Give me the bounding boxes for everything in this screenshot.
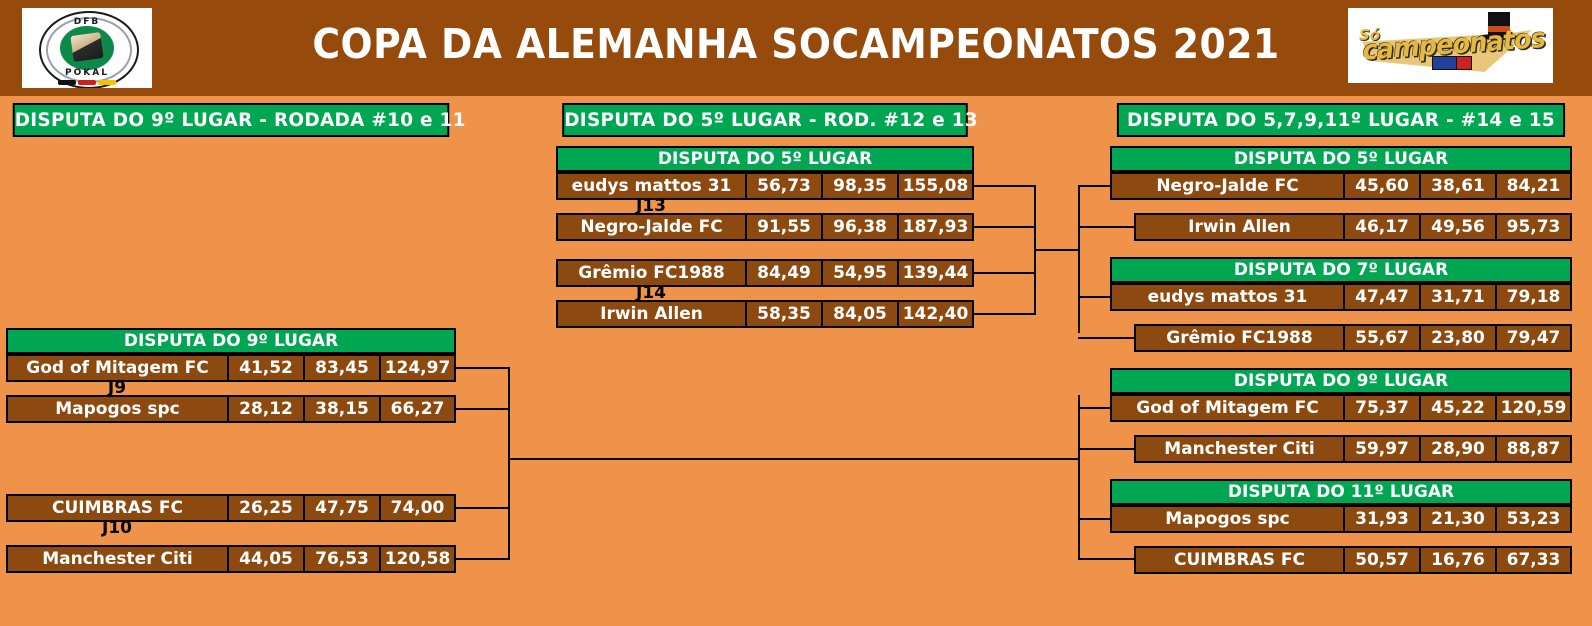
- leg2-score: 47,75: [304, 494, 380, 522]
- total-score: 88,87: [1496, 435, 1572, 463]
- bracket-page: DFB POKAL COPA DA ALEMANHA SOCAMPEONATOS…: [0, 0, 1592, 626]
- leg2-score: 84,05: [822, 300, 898, 328]
- connector-line: [1078, 407, 1112, 409]
- total-score: 155,08: [898, 172, 974, 200]
- table-row[interactable]: Irwin Allen 58,35 84,05 142,40: [556, 300, 974, 328]
- team-name: Grêmio FC1988: [1134, 324, 1344, 352]
- team-name: Mapogos spc: [1110, 505, 1344, 533]
- total-score: 66,27: [380, 395, 456, 423]
- group-title-middle-5: DISPUTA DO 5º LUGAR: [556, 146, 974, 172]
- dfb-bottom-label: POKAL: [22, 68, 152, 78]
- connector-line: [456, 408, 510, 410]
- so-campeonatos-logo: Só campeonatos: [1348, 8, 1553, 83]
- team-name: CUIMBRAS FC: [1134, 546, 1344, 574]
- connector-line: [1078, 226, 1136, 228]
- leg1-score: 26,25: [228, 494, 304, 522]
- leg2-score: 21,30: [1420, 505, 1496, 533]
- connector-line: [1078, 185, 1080, 333]
- leg1-score: 84,49: [746, 259, 822, 287]
- team-name: God of Mitagem FC: [1110, 394, 1344, 422]
- connector-line: [1078, 185, 1112, 187]
- table-row[interactable]: Irwin Allen 46,17 49,56 95,73: [1134, 213, 1572, 241]
- leg1-score: 45,60: [1344, 172, 1420, 200]
- table-row[interactable]: CUIMBRAS FC 50,57 16,76 67,33: [1134, 546, 1572, 574]
- connector-line: [1034, 249, 1080, 251]
- table-row[interactable]: Mapogos spc 28,12 38,15 66,27: [6, 395, 456, 423]
- connector-line: [974, 185, 1036, 187]
- team-name: Negro-Jalde FC: [1110, 172, 1344, 200]
- team-name: Mapogos spc: [6, 395, 228, 423]
- leg1-score: 41,52: [228, 354, 304, 382]
- leg1-score: 56,73: [746, 172, 822, 200]
- total-score: 124,97: [380, 354, 456, 382]
- table-row[interactable]: Manchester Citi 59,97 28,90 88,87: [1134, 435, 1572, 463]
- connector-line: [456, 507, 510, 509]
- group-title-right-11: DISPUTA DO 11º LUGAR: [1110, 479, 1572, 505]
- leg1-score: 44,05: [228, 545, 304, 573]
- flag-stripe-gold: [98, 80, 116, 85]
- team-name: Irwin Allen: [556, 300, 746, 328]
- total-score: 79,18: [1496, 283, 1572, 311]
- connector-line: [1078, 296, 1112, 298]
- connector-line: [1078, 448, 1136, 450]
- leg1-score: 58,35: [746, 300, 822, 328]
- connector-line: [1034, 226, 1036, 314]
- logo-badge-red: [1456, 56, 1472, 70]
- flag-stripe-black: [58, 80, 76, 85]
- leg2-score: 38,61: [1420, 172, 1496, 200]
- connector-line: [1078, 337, 1136, 339]
- leg2-score: 16,76: [1420, 546, 1496, 574]
- match-id-j10: J10: [6, 518, 228, 538]
- total-score: 53,23: [1496, 505, 1572, 533]
- leg2-score: 31,71: [1420, 283, 1496, 311]
- connector-line: [974, 226, 1036, 228]
- table-row[interactable]: Negro-Jalde FC 91,55 96,38 187,93: [556, 213, 974, 241]
- leg2-score: 76,53: [304, 545, 380, 573]
- leg1-score: 31,93: [1344, 505, 1420, 533]
- connector-line: [974, 272, 1036, 274]
- connector-line: [508, 367, 510, 409]
- team-name: Irwin Allen: [1134, 213, 1344, 241]
- leg1-score: 91,55: [746, 213, 822, 241]
- page-title: COPA DA ALEMANHA SOCAMPEONATOS 2021: [64, 20, 1529, 68]
- connector-line: [1078, 395, 1080, 558]
- leg2-score: 96,38: [822, 213, 898, 241]
- leg1-score: 75,37: [1344, 394, 1420, 422]
- team-name: eudys mattos 31: [1110, 283, 1344, 311]
- leg1-score: 50,57: [1344, 546, 1420, 574]
- group-title-left-9: DISPUTA DO 9º LUGAR: [6, 328, 456, 354]
- total-score: 79,47: [1496, 324, 1572, 352]
- connector-line: [1078, 558, 1136, 560]
- team-name: Manchester Citi: [6, 545, 228, 573]
- connector-line: [508, 458, 1080, 460]
- table-row[interactable]: God of Mitagem FC 75,37 45,22 120,59: [1110, 394, 1572, 422]
- leg2-score: 38,15: [304, 395, 380, 423]
- section-header-right: DISPUTA DO 5,7,9,11º LUGAR - #14 e 15: [1117, 103, 1565, 137]
- leg1-score: 46,17: [1344, 213, 1420, 241]
- table-row[interactable]: Grêmio FC1988 55,67 23,80 79,47: [1134, 324, 1572, 352]
- connector-line: [508, 507, 510, 559]
- leg2-score: 83,45: [304, 354, 380, 382]
- total-score: 142,40: [898, 300, 974, 328]
- leg1-score: 59,97: [1344, 435, 1420, 463]
- table-row[interactable]: eudys mattos 31 47,47 31,71 79,18: [1110, 283, 1572, 311]
- group-title-right-5: DISPUTA DO 5º LUGAR: [1110, 146, 1572, 172]
- table-row[interactable]: Negro-Jalde FC 45,60 38,61 84,21: [1110, 172, 1572, 200]
- connector-line: [1078, 518, 1112, 520]
- total-score: 139,44: [898, 259, 974, 287]
- leg2-score: 23,80: [1420, 324, 1496, 352]
- connector-line: [456, 558, 510, 560]
- total-score: 187,93: [898, 213, 974, 241]
- table-row[interactable]: Mapogos spc 31,93 21,30 53,23: [1110, 505, 1572, 533]
- table-row[interactable]: Manchester Citi 44,05 76,53 120,58: [6, 545, 456, 573]
- section-header-left: DISPUTA DO 9º LUGAR - RODADA #10 e 11: [13, 103, 450, 137]
- group-title-right-9: DISPUTA DO 9º LUGAR: [1110, 368, 1572, 394]
- section-header-middle: DISPUTA DO 5º LUGAR - ROD. #12 e 13: [562, 103, 967, 137]
- total-score: 84,21: [1496, 172, 1572, 200]
- team-name: Negro-Jalde FC: [556, 213, 746, 241]
- connector-line: [456, 367, 510, 369]
- connector-line: [1034, 185, 1036, 227]
- leg2-score: 98,35: [822, 172, 898, 200]
- leg2-score: 54,95: [822, 259, 898, 287]
- leg2-score: 45,22: [1420, 394, 1496, 422]
- total-score: 74,00: [380, 494, 456, 522]
- group-title-right-7: DISPUTA DO 7º LUGAR: [1110, 257, 1572, 283]
- leg2-score: 28,90: [1420, 435, 1496, 463]
- total-score: 95,73: [1496, 213, 1572, 241]
- leg1-score: 28,12: [228, 395, 304, 423]
- total-score: 120,59: [1496, 394, 1572, 422]
- connector-line: [974, 313, 1036, 315]
- leg1-score: 47,47: [1344, 283, 1420, 311]
- total-score: 67,33: [1496, 546, 1572, 574]
- flag-stripe-red: [78, 80, 96, 85]
- total-score: 120,58: [380, 545, 456, 573]
- team-name: Manchester Citi: [1134, 435, 1344, 463]
- leg2-score: 49,56: [1420, 213, 1496, 241]
- leg1-score: 55,67: [1344, 324, 1420, 352]
